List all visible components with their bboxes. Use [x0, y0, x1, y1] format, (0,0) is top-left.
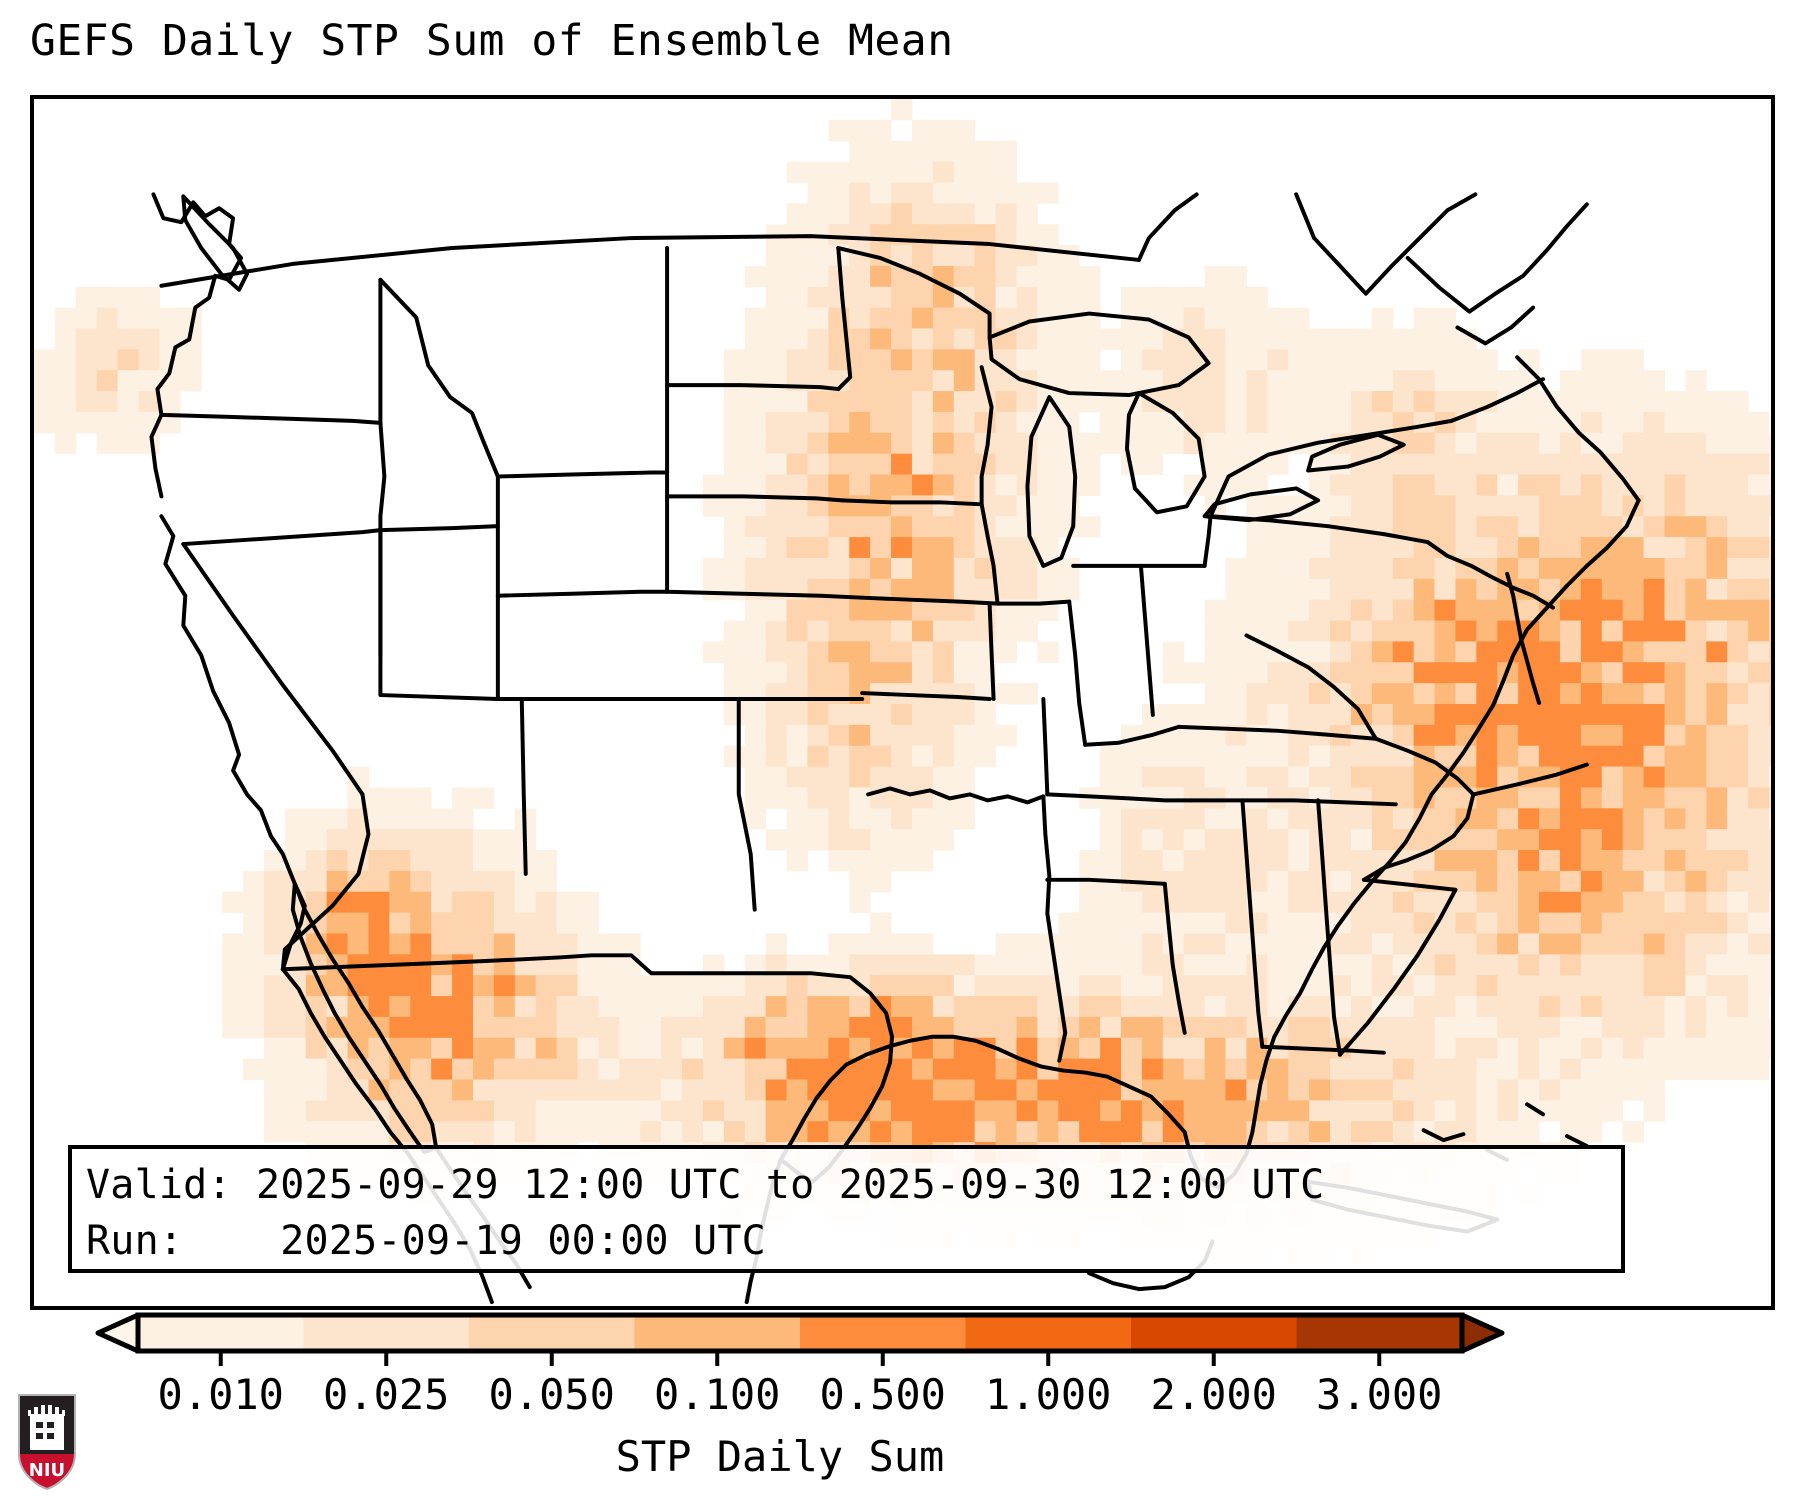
- colorbar-segment: [304, 1315, 470, 1351]
- state-border-sd-ne: [667, 496, 842, 500]
- state-border-nd-mn: [838, 248, 850, 389]
- state-border-nm-az: [522, 699, 526, 874]
- colorbar-tick-label: 0.010: [158, 1372, 284, 1418]
- colorbar-tick-label: 0.025: [323, 1372, 449, 1418]
- run-time-line: Run: 2025-09-19 00:00 UTC: [86, 1213, 1621, 1269]
- state-border-tn-ms-al-ga: [1191, 800, 1396, 804]
- state-border-wy-co: [498, 592, 667, 596]
- state-border-az-ut-nv: [380, 530, 497, 699]
- state-border-ga-sc: [1340, 880, 1455, 1055]
- state-border-ia-mo: [862, 598, 997, 604]
- state-border-ar-la: [1047, 880, 1164, 884]
- state-border-ny-vt-ma: [1451, 379, 1543, 421]
- state-border-tx-la: [1043, 796, 1065, 1060]
- state-border-or-id: [380, 423, 384, 530]
- colorbar-tick-labels: 0.0100.0250.0500.1000.5001.0002.0003.000: [0, 1372, 1803, 1422]
- colorbar-segment: [966, 1315, 1132, 1351]
- niu-logo: NIU: [16, 1392, 78, 1492]
- colorbar-segment: [1297, 1315, 1463, 1351]
- state-border-ga-fl: [1262, 1047, 1383, 1053]
- state-border-mn-canada: [838, 248, 989, 337]
- colorbar-axis-label: STP Daily Sum: [0, 1432, 1560, 1481]
- state-border-la-ms: [1165, 884, 1185, 1033]
- lake-huron: [1127, 393, 1205, 512]
- lake-michigan: [1027, 397, 1075, 566]
- state-border-ks-mo: [990, 604, 994, 699]
- niu-wordmark: NIU: [29, 1460, 65, 1481]
- state-border-mn-ia: [842, 500, 981, 504]
- colorbar-gradient: [60, 1310, 1540, 1370]
- colorbar-segment: [1131, 1315, 1297, 1351]
- state-border-nc-sc: [1364, 794, 1473, 879]
- state-border-ks-ok: [862, 693, 989, 699]
- state-border-ne-ks: [667, 592, 862, 598]
- colorbar-segment: [800, 1315, 966, 1351]
- state-border-ok-ar: [1043, 699, 1047, 794]
- colorbar-tick-label: 3.000: [1316, 1372, 1442, 1418]
- state-border-tn-nc: [1376, 739, 1474, 795]
- colorbar-segment: [469, 1315, 635, 1351]
- colorbar-tick-label: 2.000: [1151, 1372, 1277, 1418]
- colorbar-under-arrow: [98, 1315, 138, 1351]
- state-border-in-ky: [1085, 727, 1179, 745]
- state-border-pa-md-wv: [1211, 516, 1428, 542]
- map-panel[interactable]: [30, 95, 1775, 1310]
- state-border-ky-tn: [1179, 727, 1376, 739]
- state-border-id-nv-ut: [380, 526, 497, 530]
- state-border-ok-tx: [868, 788, 1043, 802]
- colorbar[interactable]: [60, 1310, 1540, 1356]
- state-border-va-nc: [1473, 765, 1586, 795]
- state-border-md-va-de: [1428, 542, 1553, 608]
- coastline-hudson-atlantic-canada: [1139, 194, 1475, 293]
- state-border-ms-al: [1242, 800, 1262, 1046]
- coastline-newengland: [1517, 357, 1638, 500]
- coastline-gulf: [781, 1037, 1185, 1160]
- state-border-ia-il: [982, 504, 998, 603]
- state-border-ar-ms-tn: [1047, 794, 1190, 800]
- state-border-wv-va-ky: [1246, 635, 1375, 738]
- state-border-il-in: [1069, 602, 1085, 745]
- colorbar-segment: [138, 1315, 304, 1351]
- coastline-pacific: [161, 516, 304, 969]
- page-title: GEFS Daily STP Sum of Ensemble Mean: [30, 14, 954, 68]
- state-border-tx-nm: [739, 699, 755, 910]
- lake-superior: [990, 314, 1209, 395]
- colorbar-tick-label: 0.050: [489, 1372, 615, 1418]
- colorbar-tick-label: 0.100: [654, 1372, 780, 1418]
- coastline-atlantic: [1185, 500, 1639, 1187]
- state-border-wi-il: [998, 602, 1070, 604]
- map-borders-layer: [34, 99, 1771, 1306]
- colorbar-tick-label: 1.000: [985, 1372, 1111, 1418]
- info-box: Valid: 2025-09-29 12:00 UTC to 2025-09-3…: [68, 1145, 1625, 1273]
- state-border-mt-wy: [498, 473, 667, 477]
- state-border-wa-or: [161, 415, 380, 423]
- state-border-nd-sd: [667, 385, 838, 389]
- state-border-or-ca-nv: [183, 530, 380, 544]
- border-us-canada: [161, 236, 1138, 286]
- colorbar-segment: [635, 1315, 801, 1351]
- colorbar-over-arrow: [1462, 1315, 1502, 1351]
- valid-time-line: Valid: 2025-09-29 12:00 UTC to 2025-09-3…: [86, 1157, 1621, 1213]
- state-border-id-mt: [380, 280, 497, 477]
- state-border-nv-ca: [183, 544, 362, 794]
- state-border-oh-pa: [1205, 516, 1211, 566]
- state-border-mn-wi: [982, 367, 992, 504]
- state-border-in-oh: [1141, 566, 1153, 715]
- colorbar-tick-label: 0.500: [820, 1372, 946, 1418]
